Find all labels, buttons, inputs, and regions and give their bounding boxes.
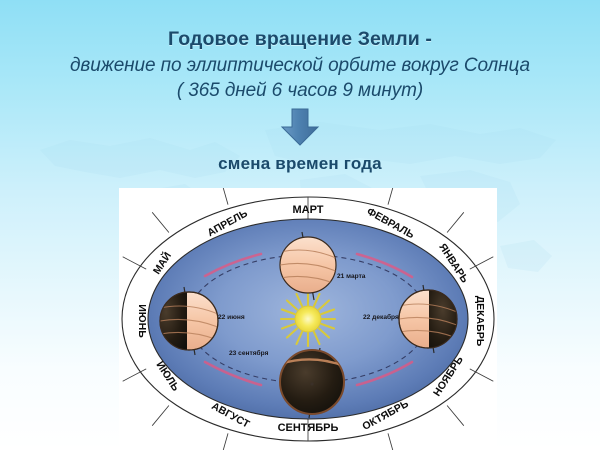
page-title-line-3: ( 365 дней 6 часов 9 минут) (0, 79, 600, 104)
heading-block: Годовое вращение Земли - движение по элл… (0, 0, 600, 174)
earth-orbit-diagram: МАРТ ФЕВРАЛЬ ЯНВАРЬ ДЕКАБРЬ НОЯБРЬ ОКТЯБ… (119, 188, 497, 450)
down-arrow-icon (278, 107, 322, 147)
month-label-iyun: ИЮНЬ (136, 304, 148, 338)
date-label-23-september: 23 сентября (229, 349, 269, 357)
date-label-22-december: 22 декабря (363, 313, 399, 321)
month-label-mart: МАРТ (292, 204, 323, 216)
month-label-sentyabr: СЕНТЯБРЬ (278, 422, 339, 434)
date-label-22-june: 22 июня (218, 314, 245, 321)
page-title-line-2: движение по эллиптической орбите вокруг … (0, 54, 600, 79)
date-label-21-march: 21 марта (337, 273, 366, 280)
diagram-panel: МАРТ ФЕВРАЛЬ ЯНВАРЬ ДЕКАБРЬ НОЯБРЬ ОКТЯБ… (119, 188, 497, 450)
arrow-container (0, 107, 600, 147)
conclusion-text: смена времен года (0, 154, 600, 174)
month-label-dekabr: ДЕКАБРЬ (474, 296, 486, 347)
page-title-line-1: Годовое вращение Земли - (0, 29, 600, 51)
